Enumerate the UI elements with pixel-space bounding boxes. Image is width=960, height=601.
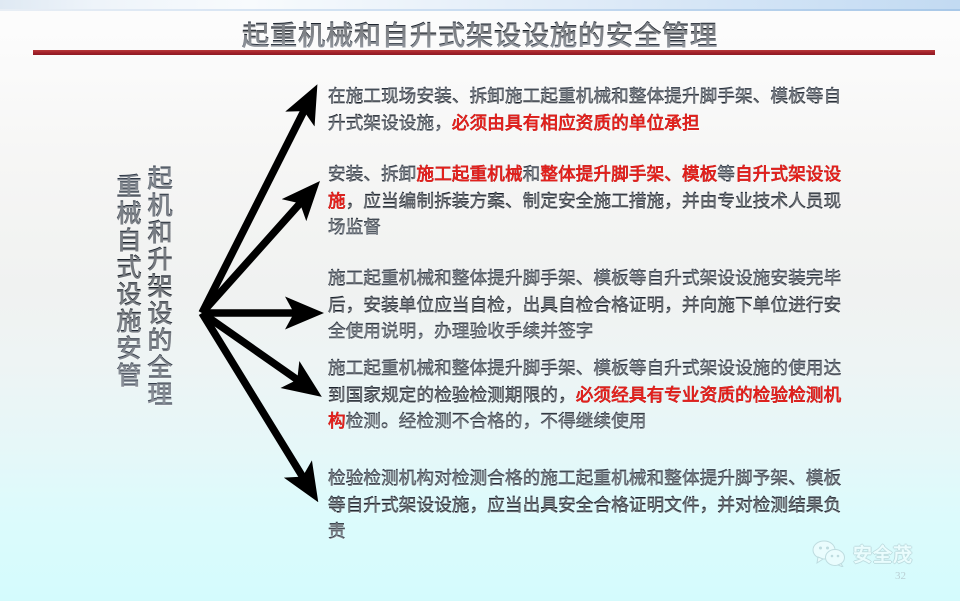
text-run: 等 <box>717 165 735 185</box>
watermark-brand: 安全茂 <box>853 540 913 567</box>
text-run: 检测。经检测不合格的，不得继续使用 <box>346 412 647 432</box>
text-run: 和 <box>523 165 541 185</box>
slide-canvas: 起重机械和自升式架设设施的安全管理 起机和升架设的全理 重械自式设施安管 在施工… <box>0 0 960 601</box>
content-block-3: 施工起重机械和整体提升脚手架、模板等自升式架设设施安装完毕后，安装单位应当自检，… <box>328 266 848 346</box>
page-number: 32 <box>895 570 906 582</box>
content-block-5: 检验检测机构对检测合格的施工起重机械和整体提升脚予架、模板等自升式架设设施，应当… <box>328 466 848 546</box>
left-vertical-label: 起机和升架设的全理 重械自式设施安管 <box>112 165 174 408</box>
title-divider-rule <box>33 50 935 55</box>
text-run: ，应当编制拆装方案、制定安全施工措施，并由专业技术人员现场监督 <box>328 192 841 239</box>
vertical-label-column-right: 起机和升架设的全理 <box>143 165 174 408</box>
content-block-1: 在施工现场安装、拆卸施工起重机械和整体提升脚手架、模板等自升式架设设施，必须由具… <box>328 84 848 137</box>
highlighted-text-run: 必须由具有相应资质的单位承担 <box>452 114 700 134</box>
arrow-4 <box>202 313 312 390</box>
top-band-line <box>0 9 960 11</box>
arrow-1 <box>202 95 312 313</box>
highlighted-text-run: 整体提升脚手架、模板 <box>540 165 717 185</box>
text-run: 安装、拆卸 <box>328 165 417 185</box>
arrow-5 <box>202 313 312 492</box>
content-block-4: 施工起重机械和整体提升脚手架、模板等自升式架设设施的使用达到国家规定的检验检测期… <box>328 356 848 436</box>
highlighted-text-run: 施工起重机械 <box>417 165 523 185</box>
page-title: 起重机械和自升式架设设施的安全管理 <box>0 14 960 53</box>
text-run: 施工起重机械和整体提升脚手架、模板等自升式架设设施安装完毕后，安装单位应当自检，… <box>328 269 841 342</box>
text-run: 检验检测机构对检测合格的施工起重机械和整体提升脚予架、模板等自升式架设设施，应当… <box>328 469 841 542</box>
arrow-2 <box>202 190 312 313</box>
content-block-2: 安装、拆卸施工起重机械和整体提升脚手架、模板等自升式架设设施，应当编制拆装方案、… <box>328 162 848 242</box>
watermark: 安全茂 <box>812 540 913 567</box>
wechat-icon <box>812 540 846 567</box>
vertical-label-column-left: 重械自式设施安管 <box>112 173 143 389</box>
